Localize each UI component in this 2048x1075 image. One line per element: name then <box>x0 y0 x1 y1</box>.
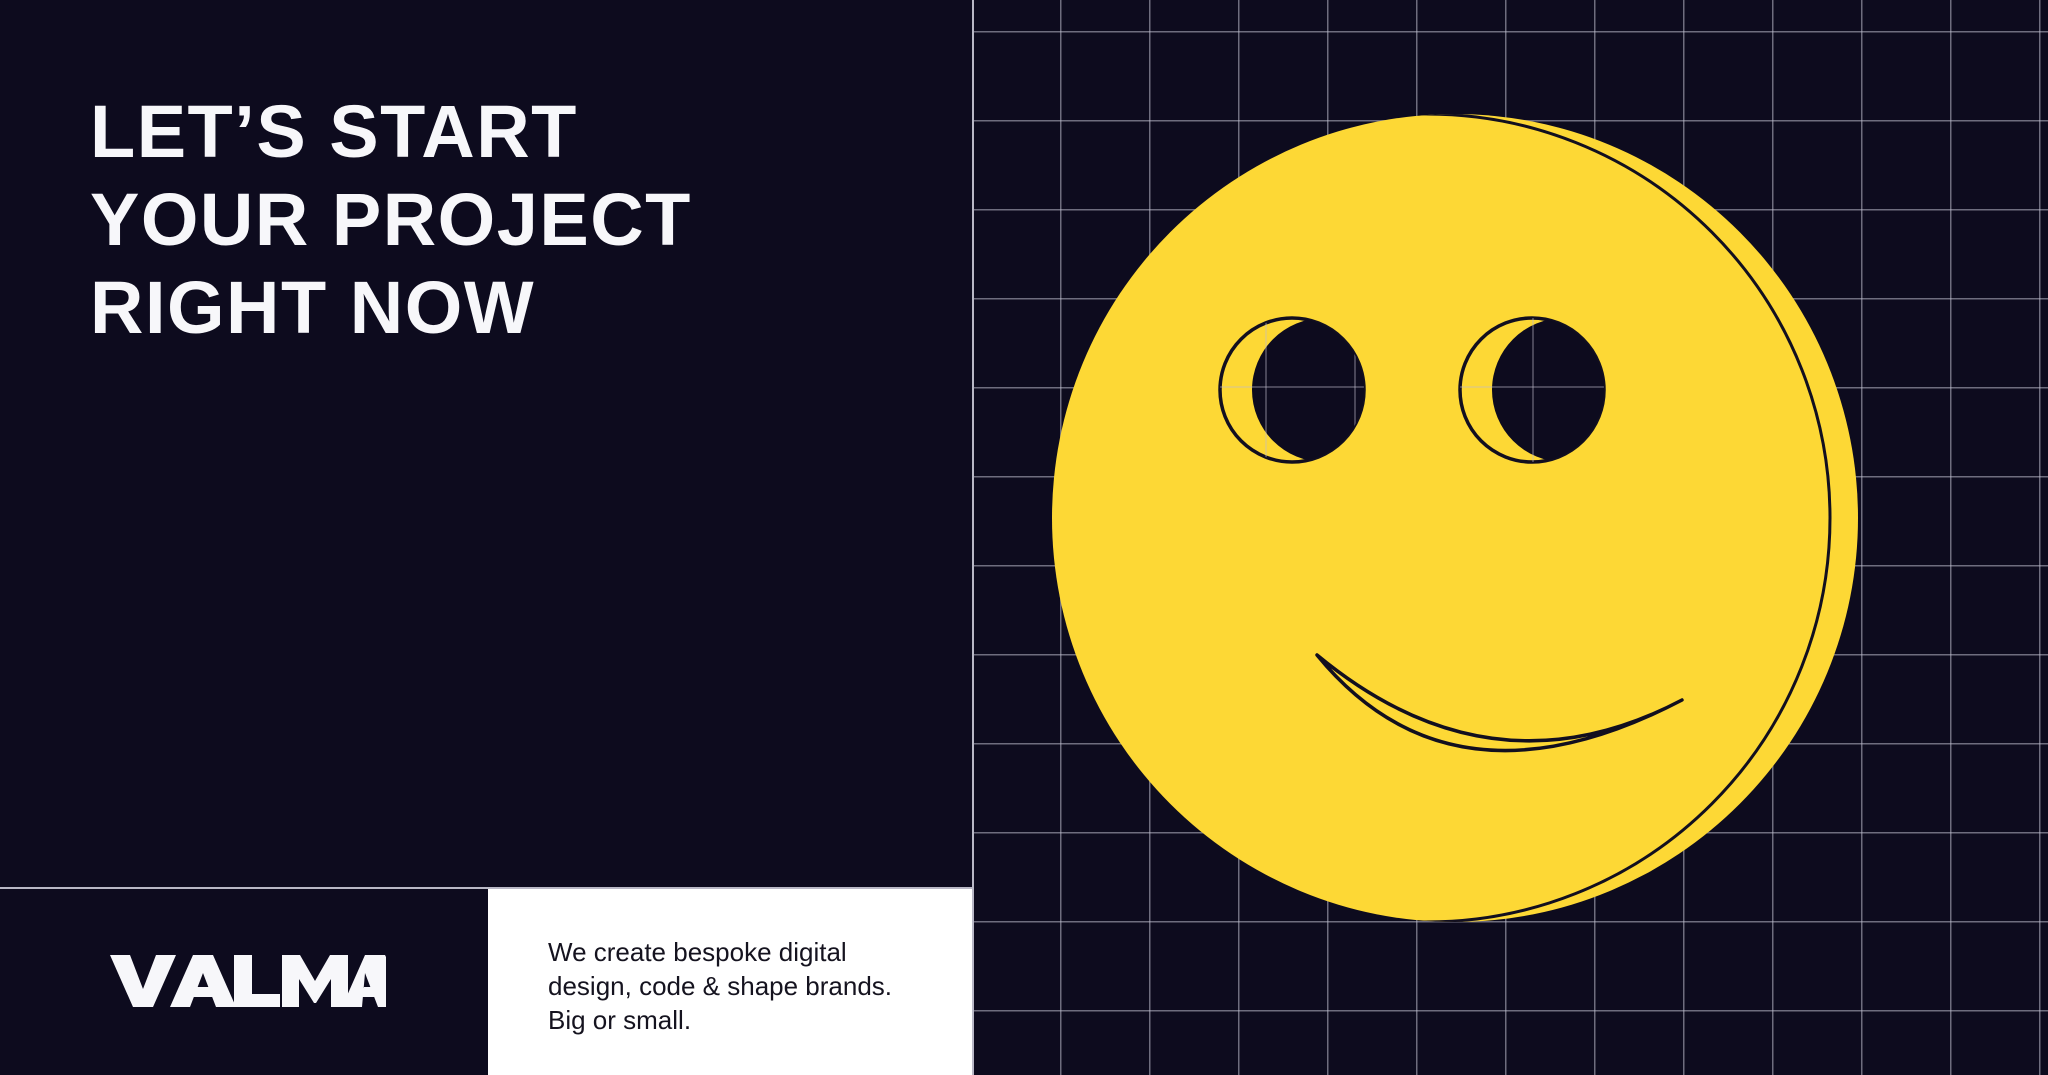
tagline-line-2: design, code & shape brands. <box>548 969 948 1003</box>
tagline-line-3: Big or small. <box>548 1003 948 1037</box>
headline-line-1: LET’S START <box>90 88 910 176</box>
page-title: LET’S START YOUR PROJECT RIGHT NOW <box>90 88 910 352</box>
headline-line-2: YOUR PROJECT <box>90 176 910 264</box>
tagline-card: We create bespoke digital design, code &… <box>488 889 972 1075</box>
logo-area <box>0 889 488 1075</box>
face-body <box>1052 114 1858 922</box>
panel-divider <box>972 0 974 1075</box>
tagline-line-1: We create bespoke digital <box>548 935 948 969</box>
poster-canvas: LET’S START YOUR PROJECT RIGHT NOW <box>0 0 2048 1075</box>
smiley-face-illustration <box>972 0 2048 1075</box>
tagline-text: We create bespoke digital design, code &… <box>548 935 948 1037</box>
grid-panel <box>972 0 2048 1075</box>
valmax-logo[interactable] <box>110 951 386 1007</box>
headline-line-3: RIGHT NOW <box>90 264 910 352</box>
